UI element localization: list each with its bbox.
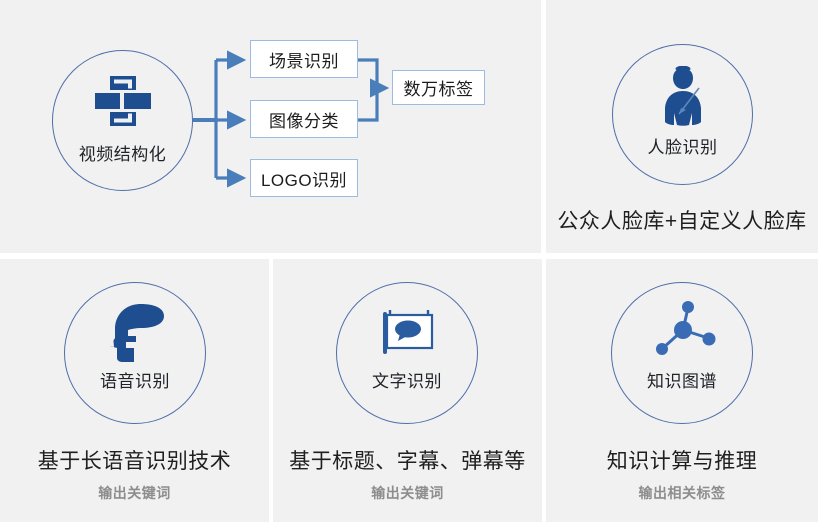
speech-head-icon <box>105 302 167 364</box>
caption-text-recognition: 基于标题、字幕、弹幕等 <box>273 445 542 475</box>
flow-box-tens-of-thousands-tags[interactable]: 数万标签 <box>392 70 485 105</box>
face-recognition-icon <box>655 66 711 126</box>
capability-overview-board: 视频结构化 场景识别 图像分类 LOGO识别 数万标签 人脸识别 公众人脸库+自… <box>0 0 818 522</box>
circle-knowledge-graph-label: 知识图谱 <box>611 367 753 392</box>
knowledge-graph-icon <box>650 300 716 362</box>
circle-video-structuring-label: 视频结构化 <box>52 140 193 165</box>
caption-knowledge-graph: 知识计算与推理 <box>546 445 818 475</box>
flow-box-logo-recognition[interactable]: LOGO识别 <box>250 159 358 197</box>
flow-box-scene-recognition[interactable]: 场景识别 <box>250 40 358 78</box>
flow-box-image-classification[interactable]: 图像分类 <box>250 100 358 138</box>
circle-face-recognition-label: 人脸识别 <box>612 133 753 158</box>
video-structuring-icon <box>95 76 151 126</box>
circle-speech-recognition-label: 语音识别 <box>64 367 206 392</box>
caption-speech-recognition: 基于长语音识别技术 <box>0 445 269 475</box>
text-banner-icon <box>376 306 438 360</box>
subcaption-text-recognition: 输出关键词 <box>273 483 542 503</box>
caption-face-recognition: 公众人脸库+自定义人脸库 <box>546 205 818 235</box>
subcaption-knowledge-graph: 输出相关标签 <box>546 483 818 503</box>
subcaption-speech-recognition: 输出关键词 <box>0 483 269 503</box>
circle-text-recognition-label: 文字识别 <box>336 367 478 392</box>
